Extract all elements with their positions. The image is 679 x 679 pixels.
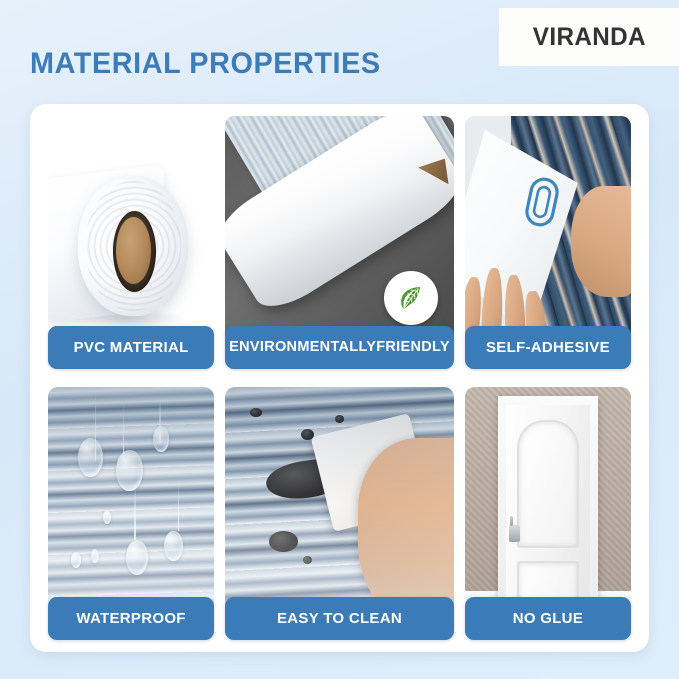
- water-drop-4: [126, 540, 148, 575]
- self-adhesive-image: [465, 116, 631, 348]
- drop-trail-1: [95, 392, 97, 462]
- stain-medium: [269, 531, 299, 552]
- cleaning-cloth: [311, 413, 432, 532]
- drop-trail-4: [134, 484, 136, 540]
- right-hand: [571, 186, 631, 297]
- drop-trail-5: [178, 480, 180, 531]
- water-drop-6: [71, 552, 81, 568]
- stain-small-4: [303, 556, 312, 564]
- waterproof-image: [48, 387, 214, 619]
- water-scene: [48, 387, 214, 619]
- water-drop-2: [116, 450, 143, 492]
- clean-scene: [225, 387, 454, 619]
- water-drop-3: [153, 426, 170, 452]
- brand-logo-text: VIRANDA: [532, 23, 645, 52]
- cleaning-hand: [358, 438, 454, 619]
- water-drop-7: [91, 549, 99, 563]
- feature-card-environmentally-friendly[interactable]: ENVIRONMENTALLY FRIENDLY: [225, 116, 454, 369]
- stain-small-3: [335, 415, 344, 423]
- feature-card-no-glue[interactable]: NO GLUE: [465, 387, 631, 640]
- water-drop-5: [164, 531, 182, 561]
- pvc-roll-image: [48, 116, 214, 348]
- feature-label-line-1: ENVIRONMENTALLY: [229, 340, 376, 355]
- adhesive-scene: [465, 116, 631, 348]
- door-panel-top: [517, 420, 579, 548]
- page-title: MATERIAL PROPERTIES: [30, 47, 381, 81]
- water-drop-1: [78, 438, 103, 477]
- eco-scene: [225, 116, 454, 348]
- feature-label-pvc-material: PVC MATERIAL: [48, 326, 214, 369]
- page-header: MATERIAL PROPERTIES VIRANDA: [0, 0, 679, 100]
- drop-trail-3: [159, 396, 161, 442]
- door-handle: [509, 525, 520, 542]
- door-scene: [465, 387, 631, 619]
- feature-label-easy-to-clean: EASY TO CLEAN: [225, 597, 454, 640]
- feature-label-environmentally-friendly: ENVIRONMENTALLY FRIENDLY: [225, 326, 454, 369]
- brand-logo: VIRANDA: [499, 8, 679, 66]
- eco-wallpaper-image: [225, 116, 454, 348]
- feature-label-waterproof: WATERPROOF: [48, 597, 214, 640]
- features-panel: PVC MATERIAL: [30, 104, 649, 652]
- stain-large: [264, 456, 346, 504]
- pvc-scene: [48, 116, 214, 348]
- eco-leaf-badge: [384, 271, 438, 325]
- leaf-icon: [395, 282, 427, 314]
- feature-card-pvc-material[interactable]: PVC MATERIAL: [48, 116, 214, 369]
- feature-label-no-glue: NO GLUE: [465, 597, 631, 640]
- features-grid: PVC MATERIAL: [48, 116, 631, 640]
- door-leaf: [506, 405, 590, 619]
- feature-label-self-adhesive: SELF-ADHESIVE: [465, 326, 631, 369]
- feature-card-self-adhesive[interactable]: SELF-ADHESIVE: [465, 116, 631, 369]
- feature-card-waterproof[interactable]: WATERPROOF: [48, 387, 214, 640]
- drop-trail-2: [123, 401, 125, 461]
- water-drop-8: [103, 510, 111, 524]
- feature-card-easy-to-clean[interactable]: EASY TO CLEAN: [225, 387, 454, 640]
- door-frame: [498, 396, 598, 619]
- stain-small-2: [250, 408, 261, 417]
- no-glue-image: [465, 387, 631, 619]
- stain-small-1: [301, 429, 315, 441]
- easy-to-clean-image: [225, 387, 454, 619]
- feature-label-line-2: FRIENDLY: [376, 340, 450, 355]
